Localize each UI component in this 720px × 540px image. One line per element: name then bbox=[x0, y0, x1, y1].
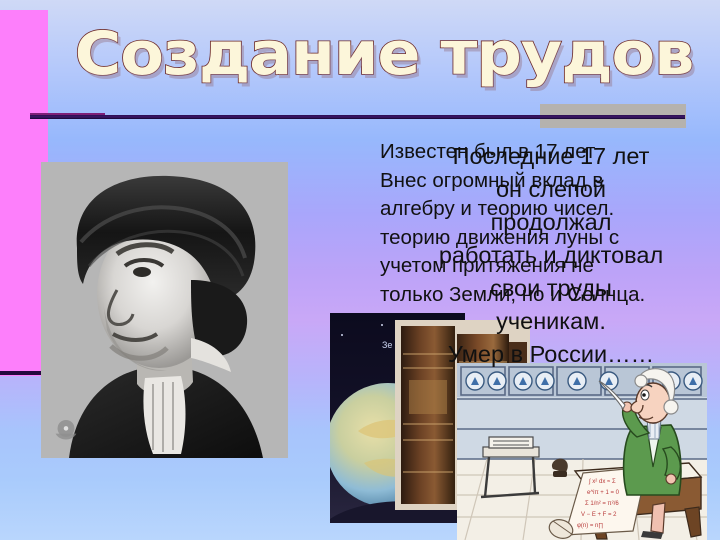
slide-title: Создание трудов bbox=[66, 18, 702, 90]
portrait-illustration bbox=[41, 162, 288, 458]
header-divider-rule bbox=[30, 115, 685, 119]
svg-text:V − E + F = 2: V − E + F = 2 bbox=[581, 512, 617, 518]
svg-text:Зе: Зе bbox=[382, 340, 392, 350]
body-line: свои труды bbox=[396, 272, 706, 305]
portrait-image bbox=[41, 162, 288, 458]
svg-text:φ(n) = n∏: φ(n) = n∏ bbox=[577, 523, 603, 529]
svg-text:e^iπ + 1 = 0: e^iπ + 1 = 0 bbox=[587, 490, 620, 496]
body-line: Умер в России…… bbox=[396, 338, 706, 371]
cartoon-image: ∫ x² dx ≈ Σ e^iπ + 1 = 0 Σ 1/n² = π²/6 V… bbox=[457, 363, 707, 540]
body-line: ученикам. bbox=[396, 305, 706, 338]
body-line: продолжал bbox=[396, 206, 706, 239]
svg-text:Σ 1/n² = π²/6: Σ 1/n² = π²/6 bbox=[585, 501, 619, 507]
body-line: работать и диктовал bbox=[396, 239, 706, 272]
body-text-primary: Последние 17 лет он слепой продолжал раб… bbox=[396, 140, 706, 371]
watermark-logo-icon bbox=[53, 418, 79, 444]
slide-canvas: Создание трудов bbox=[0, 0, 720, 540]
body-line: Последние 17 лет bbox=[396, 140, 706, 173]
scholar-dictating-illustration: ∫ x² dx ≈ Σ e^iπ + 1 = 0 Σ 1/n² = π²/6 V… bbox=[457, 363, 707, 540]
svg-text:∫ x² dx ≈ Σ: ∫ x² dx ≈ Σ bbox=[588, 478, 616, 485]
body-line: он слепой bbox=[396, 173, 706, 206]
